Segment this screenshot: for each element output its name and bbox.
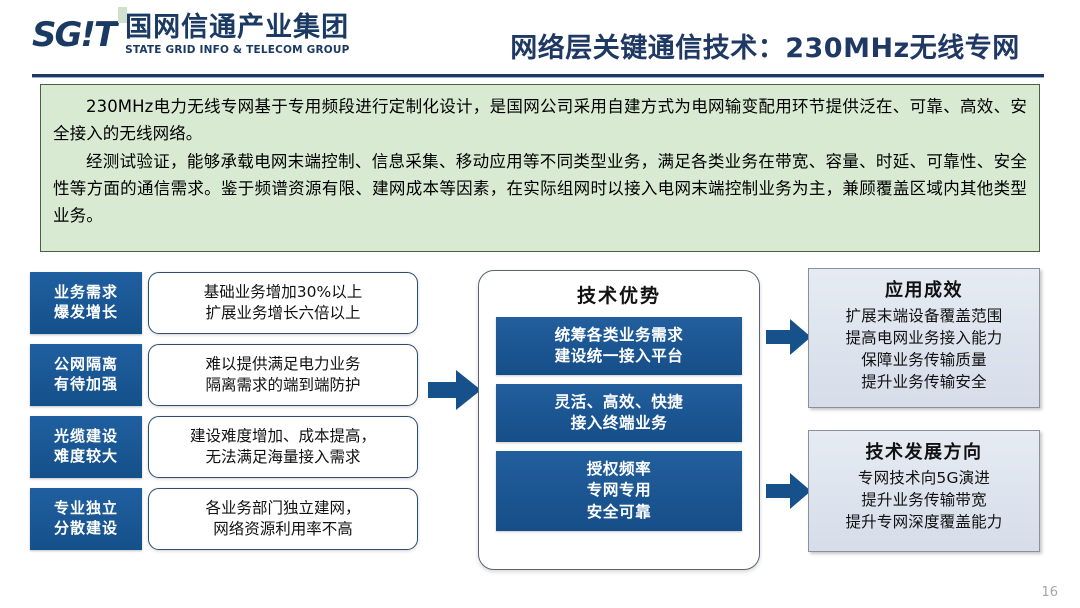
brand-name-en: STATE GRID INFO & TELECOM GROUP [125,45,349,56]
advantages-panel: 技术优势 统筹各类业务需求 建设统一接入平台 灵活、高效、快捷 接入终端业务 授… [478,270,760,570]
arrow-right-icon-top [766,318,812,356]
header-divider-light [32,77,1044,78]
advantage-box: 灵活、高效、快捷 接入终端业务 [496,384,742,442]
advantage-line1: 灵活、高效、快捷 [555,392,684,413]
arrow-right-icon-left [428,368,482,412]
outcome-line: 提升专网深度覆盖能力 [813,511,1035,533]
issue-desc-line1: 基础业务增加30%以上 [204,282,362,303]
issue-tag-line1: 公网隔离 [54,355,118,375]
issue-tag-line2: 分散建设 [54,519,118,539]
advantages-title: 技术优势 [496,281,742,308]
issue-desc-line1: 各业务部门独立建网， [205,498,360,519]
issue-desc-line2: 无法满足海量接入需求 [205,447,360,468]
summary-paragraph-1: 230MHz电力无线专网基于专用频段进行定制化设计，是国网公司采用自建方式为电网… [53,94,1027,147]
page-title: 网络层关键通信技术：230MHz无线专网 [470,26,1060,65]
advantage-line1: 统筹各类业务需求 [555,325,684,346]
issue-tag: 业务需求 爆发增长 [30,272,142,334]
advantage-line2: 接入终端业务 [571,413,668,434]
issue-description: 各业务部门独立建网， 网络资源利用率不高 [148,488,418,550]
issue-desc-line2: 扩展业务增长六倍以上 [205,303,360,324]
issue-desc-line1: 难以提供满足电力业务 [205,354,360,375]
issue-desc-line2: 网络资源利用率不高 [213,519,353,540]
outcome-box-roadmap: 技术发展方向 专网技术向5G演进 提升业务传输带宽 提升专网深度覆盖能力 [808,430,1040,552]
issue-tag: 公网隔离 有待加强 [30,344,142,406]
advantage-line2: 建设统一接入平台 [555,346,684,367]
issue-description: 建设难度增加、成本提高， 无法满足海量接入需求 [148,416,418,478]
issue-tag-line1: 专业独立 [54,499,118,519]
issue-row: 公网隔离 有待加强 难以提供满足电力业务 隔离需求的端到端防护 [30,344,418,406]
issue-tag: 光缆建设 难度较大 [30,416,142,478]
issue-row: 光缆建设 难度较大 建设难度增加、成本提高， 无法满足海量接入需求 [30,416,418,478]
arrow-right-icon-bottom [766,472,812,510]
outcome-line: 扩展末端设备覆盖范围 [813,305,1035,327]
outcome-line: 提升业务传输带宽 [813,489,1035,511]
logo-green-square-icon [118,7,127,23]
brand-name: 国网信通产业集团 STATE GRID INFO & TELECOM GROUP [125,14,349,56]
issue-row: 业务需求 爆发增长 基础业务增加30%以上 扩展业务增长六倍以上 [30,272,418,334]
issue-description: 基础业务增加30%以上 扩展业务增长六倍以上 [148,272,418,334]
summary-paragraph-2: 经测试验证，能够承载电网末端控制、信息采集、移动应用等不同类型业务，满足各类业务… [53,149,1027,229]
issue-tag-line2: 爆发增长 [54,303,118,323]
sgit-logo-text: SG!T [32,15,115,55]
summary-panel: 230MHz电力无线专网基于专用频段进行定制化设计，是国网公司采用自建方式为电网… [40,84,1040,252]
issues-column: 业务需求 爆发增长 基础业务增加30%以上 扩展业务增长六倍以上 公网隔离 有待… [30,272,418,560]
advantage-line3: 安全可靠 [587,502,651,523]
outcome-line: 专网技术向5G演进 [813,467,1035,489]
issue-tag-line2: 有待加强 [54,375,118,395]
brand-logo: SG!T 国网信通产业集团 STATE GRID INFO & TELECOM … [32,14,350,56]
page-number: 16 [1041,585,1058,600]
brand-name-cn: 国网信通产业集团 [125,14,349,41]
issue-description: 难以提供满足电力业务 隔离需求的端到端防护 [148,344,418,406]
sgit-logo-icon: SG!T [32,18,115,52]
outcome-line: 保障业务传输质量 [813,349,1035,371]
issue-desc-line2: 隔离需求的端到端防护 [205,375,360,396]
advantage-line2: 专网专用 [587,480,651,501]
issue-tag-line1: 业务需求 [54,283,118,303]
outcome-title: 应用成效 [813,276,1035,302]
advantage-box: 授权频率 专网专用 安全可靠 [496,451,742,531]
advantage-box: 统筹各类业务需求 建设统一接入平台 [496,317,742,375]
advantage-line1: 授权频率 [587,459,651,480]
page-header: SG!T 国网信通产业集团 STATE GRID INFO & TELECOM … [0,0,1080,78]
issue-tag: 专业独立 分散建设 [30,488,142,550]
outcome-box-application: 应用成效 扩展末端设备覆盖范围 提高电网业务接入能力 保障业务传输质量 提升业务… [808,268,1040,408]
outcome-title: 技术发展方向 [813,438,1035,464]
outcome-line: 提高电网业务接入能力 [813,327,1035,349]
issue-tag-line1: 光缆建设 [54,427,118,447]
issue-row: 专业独立 分散建设 各业务部门独立建网， 网络资源利用率不高 [30,488,418,550]
outcome-line: 提升业务传输安全 [813,371,1035,393]
issue-desc-line1: 建设难度增加、成本提高， [190,426,376,447]
issue-tag-line2: 难度较大 [54,447,118,467]
